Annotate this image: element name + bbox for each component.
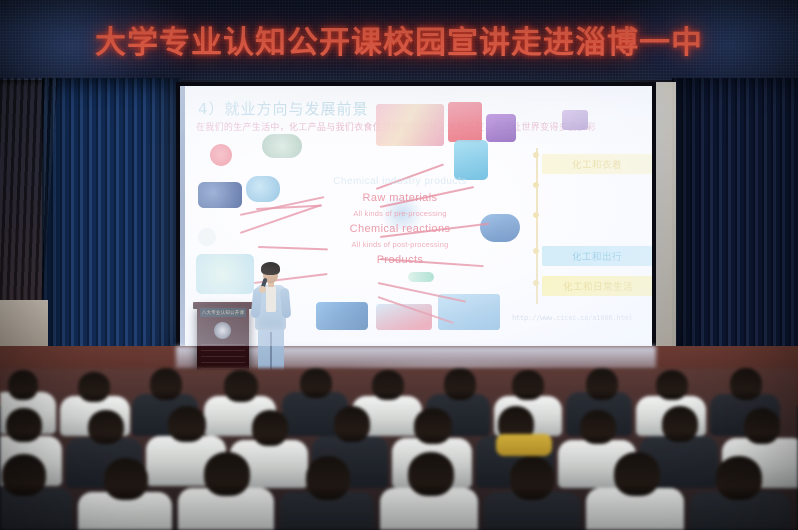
flow-step-post-processing: All kinds of post-processing xyxy=(300,240,500,249)
audience-head xyxy=(204,452,250,496)
thumb-box xyxy=(562,110,588,130)
thumb-airplane xyxy=(438,294,500,330)
audience-head xyxy=(78,372,110,402)
thumb-car xyxy=(316,302,368,330)
audience-head xyxy=(444,368,476,400)
auditorium-photo: 大学专业认知公开课校园宣讲走进淄博一中 4）就业方向与发展前景 在我们的生产生活… xyxy=(0,0,798,530)
flow-step-chemical-reactions: Chemical reactions xyxy=(300,223,500,235)
chip-rail-dot xyxy=(533,280,539,286)
audience-head xyxy=(8,370,38,400)
speaker-hair xyxy=(261,262,280,275)
thumb-coal xyxy=(198,182,242,208)
school-emblem-icon xyxy=(214,322,231,339)
thumb-smoke xyxy=(262,134,302,158)
audience-coat xyxy=(0,488,72,530)
slide-title: 4）就业方向与发展前景 xyxy=(198,98,369,119)
audience-head xyxy=(150,368,182,400)
podium-nameplate-text: 八大专业认知公开课 xyxy=(200,308,246,317)
audience-head xyxy=(510,456,554,500)
audience-head xyxy=(88,410,124,444)
audience xyxy=(0,368,798,530)
audience-head xyxy=(662,406,698,442)
process-flow-stack: Chemical industry products Raw materials… xyxy=(300,174,500,271)
audience-head xyxy=(334,406,370,442)
audience-head xyxy=(6,408,42,442)
audience-head xyxy=(408,452,454,496)
speaker-hand xyxy=(259,286,266,293)
audience-head xyxy=(306,456,350,500)
slide-accent-bar xyxy=(180,86,185,346)
thumb-molecule xyxy=(196,254,254,294)
audience-head xyxy=(656,370,688,400)
speaker-shirt xyxy=(266,286,276,312)
category-chip-clothing: 化工和衣着 xyxy=(542,154,652,174)
audience-head xyxy=(2,454,46,496)
chip-rail-dot xyxy=(533,152,539,158)
category-chip-transport: 化工和出行 xyxy=(542,246,652,266)
audience-head xyxy=(512,370,544,400)
thumb-lab-circle xyxy=(198,228,216,246)
audience-head xyxy=(580,410,616,444)
audience-head xyxy=(744,408,780,444)
audience-head xyxy=(586,368,618,400)
flow-step-pre-processing: All kinds of pre-processing xyxy=(300,209,500,218)
thumb-package xyxy=(448,102,482,142)
thumb-pill xyxy=(408,272,434,282)
chip-rail-dot xyxy=(533,212,539,218)
audience-head xyxy=(730,368,762,400)
audience-head xyxy=(414,408,452,444)
audience-head xyxy=(614,452,660,496)
flow-step-raw-materials: Raw materials xyxy=(300,192,500,204)
audience-head xyxy=(300,368,332,398)
led-banner: 大学专业认知公开课校园宣讲走进淄博一中 xyxy=(0,0,798,80)
thumb-bag xyxy=(486,114,516,142)
audience-head xyxy=(372,370,404,400)
flow-heading: Chemical industry products xyxy=(300,176,500,187)
stage-curtain-left xyxy=(42,78,182,390)
slide-source-url: http://www.cicsc.co/a1006.html xyxy=(512,314,632,322)
flow-step-products: Products xyxy=(300,254,500,266)
flow-arrow xyxy=(378,282,466,302)
audience-head xyxy=(104,458,148,500)
thumb-sun xyxy=(210,144,232,166)
chip-rail-dot xyxy=(533,248,539,254)
thumb-gas-cloud xyxy=(246,176,280,202)
chip-rail-dot xyxy=(533,182,539,188)
audience-head xyxy=(716,456,762,500)
category-chip-daily-life: 化工和日常生活 xyxy=(542,276,652,296)
audience-head xyxy=(224,370,258,402)
stage-curtain-right xyxy=(672,78,798,390)
audience-head xyxy=(168,406,206,442)
thumb-boat xyxy=(376,304,432,330)
audience-scarf xyxy=(496,434,552,456)
thumb-cosmetics xyxy=(376,104,444,146)
audience-head xyxy=(252,410,288,446)
banner-headline: 大学专业认知公开课校园宣讲走进淄博一中 xyxy=(0,17,798,62)
